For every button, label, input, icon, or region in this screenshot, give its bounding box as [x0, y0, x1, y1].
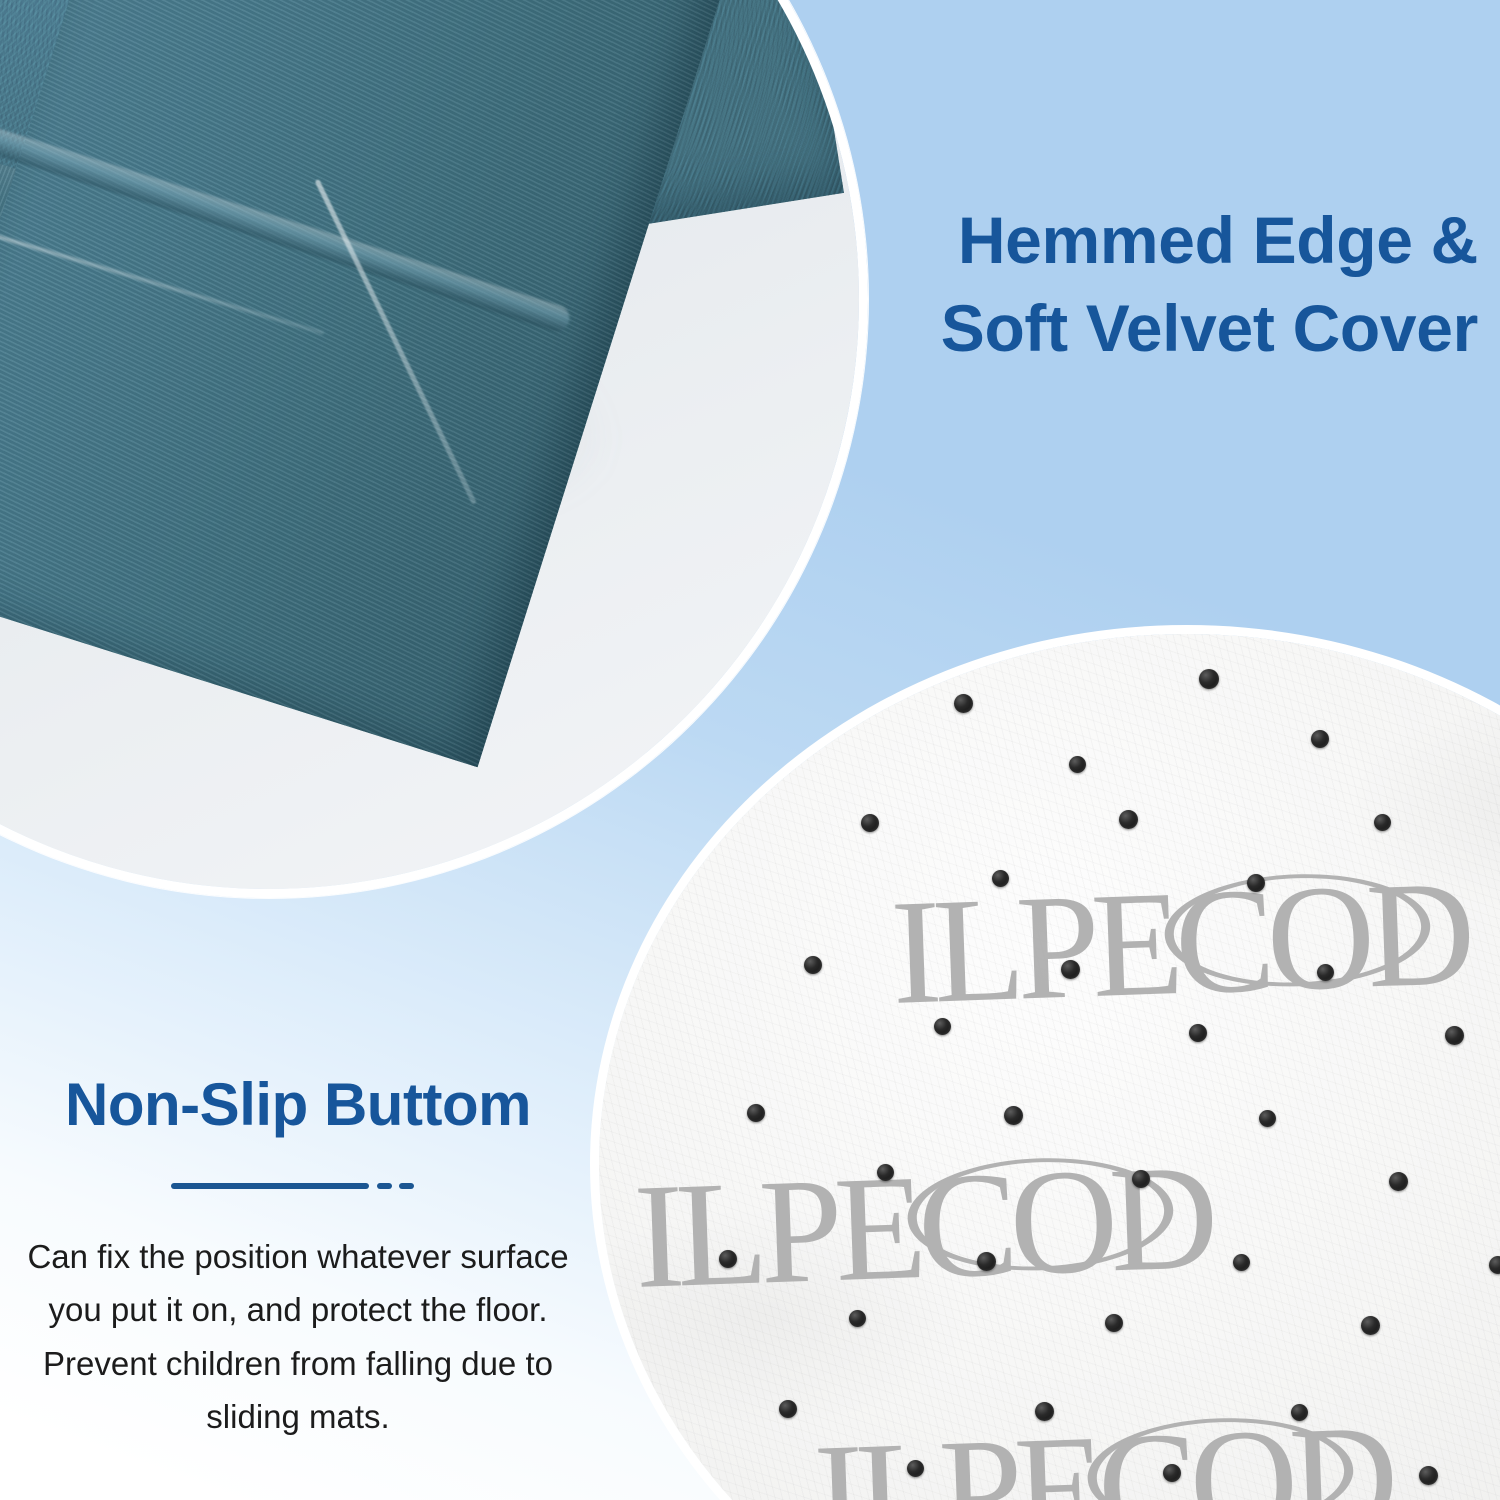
mat-silicone-dot	[804, 956, 822, 974]
mat-silicone-dot	[954, 694, 973, 713]
divider-bar	[171, 1183, 369, 1189]
brand-watermark-text: ILPECOD	[632, 1134, 1213, 1320]
mat-silicone-dot	[877, 1164, 894, 1181]
mat-silicone-dot	[1389, 1172, 1408, 1191]
divider-dash-2	[399, 1183, 414, 1189]
promo-image-canvas: ILPECOD⃝ ILPECOD⃝ ILPECOD⃝ Hemmed Edge &…	[0, 0, 1500, 1500]
mat-silicone-dot	[1419, 1466, 1438, 1485]
mat-silicone-dot	[1317, 964, 1334, 981]
section-divider	[171, 1180, 425, 1190]
mat-silicone-dot	[1119, 810, 1138, 829]
mat-silicone-dot	[1105, 1314, 1123, 1332]
divider-dash-1	[377, 1183, 392, 1189]
mat-silicone-dot	[747, 1104, 765, 1122]
mat-silicone-dot	[1004, 1106, 1023, 1125]
mat-silicone-dot	[1361, 1316, 1380, 1335]
mat-silicone-dot	[1163, 1464, 1181, 1482]
brand-watermark: ILPECOD⃝	[887, 811, 1443, 1047]
mat-silicone-dot	[1233, 1254, 1250, 1271]
brand-watermark-text: ILPECOD	[889, 850, 1470, 1036]
mat-silicone-dot	[1445, 1026, 1464, 1045]
mat-silicone-dot	[1374, 814, 1391, 831]
mat-silicone-dot	[1035, 1402, 1054, 1421]
headline-line-1: Hemmed Edge &	[958, 203, 1478, 277]
mat-silicone-dot	[1291, 1404, 1308, 1421]
brand-watermark: ILPECOD⃝	[630, 1095, 1186, 1331]
brand-watermark: ILPECOD⃝	[810, 1355, 1366, 1500]
feature-headline-velvet: Hemmed Edge & Soft Velvet Cover	[718, 196, 1478, 373]
product-photo-nonslip-mat: ILPECOD⃝ ILPECOD⃝ ILPECOD⃝	[590, 625, 1500, 1500]
mat-silicone-dot	[719, 1250, 737, 1268]
mat-silicone-dot	[1132, 1170, 1150, 1188]
mat-silicone-dot	[934, 1018, 951, 1035]
mat-silicone-dot	[861, 814, 879, 832]
mat-silicone-dot	[849, 1310, 866, 1327]
mat-silicone-dot	[907, 1460, 924, 1477]
mat-silicone-dot	[1259, 1110, 1276, 1127]
mat-silicone-dot	[1069, 756, 1086, 773]
mat-silicone-dot	[1444, 656, 1463, 675]
mat-silicone-dot	[1247, 874, 1265, 892]
mat-silicone-dot	[1311, 730, 1329, 748]
mat-silicone-dot	[1189, 1024, 1207, 1042]
mat-silicone-dot	[992, 870, 1009, 887]
feature-headline-nonslip: Non-Slip Buttom	[18, 1072, 578, 1138]
feature-block-nonslip: Non-Slip Buttom Can fix the position wha…	[18, 1072, 578, 1444]
mat-silicone-dot	[977, 1252, 996, 1271]
headline-line-2: Soft Velvet Cover	[718, 284, 1478, 372]
mat-silicone-dot	[779, 1400, 797, 1418]
mat-silicone-dot	[1199, 669, 1219, 689]
mat-silicone-dot	[1489, 1256, 1500, 1274]
feature-body-nonslip: Can fix the position whatever surface yo…	[18, 1230, 578, 1444]
mat-silicone-dot	[1061, 960, 1080, 979]
